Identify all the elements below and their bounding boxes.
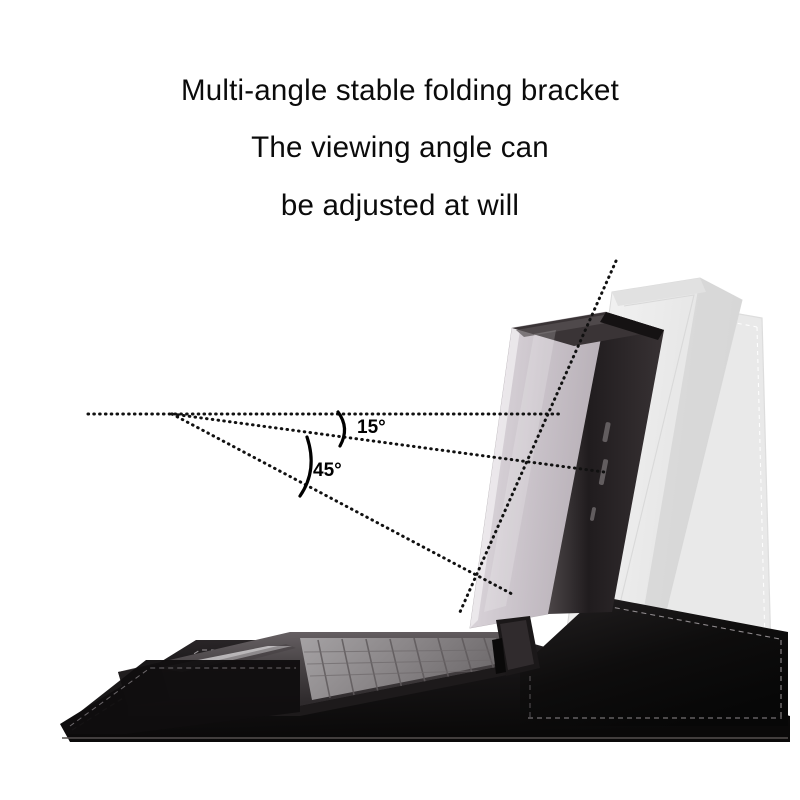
magnetic-hinge [492, 616, 540, 676]
angle-15-label: 15° [357, 417, 386, 439]
angle-45-label: 45° [313, 460, 342, 482]
product-photo [0, 0, 800, 800]
product-marketing-image: Multi-angle stable folding bracket The v… [0, 0, 800, 800]
